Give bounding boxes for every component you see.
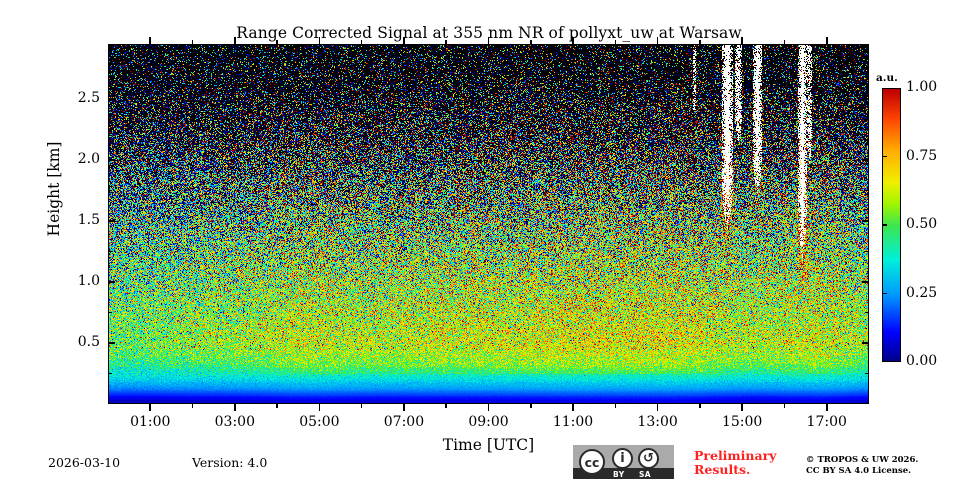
x-major-tick-top: [572, 37, 574, 44]
y-major-tick-right: [862, 281, 869, 283]
preliminary-results-note: Preliminary Results.: [694, 449, 776, 477]
x-minor-tick: [192, 404, 194, 408]
y-major-tick: [108, 98, 115, 100]
colorbar-tick-label: 1.00: [906, 79, 937, 95]
cc-logo-icon: cc: [579, 449, 605, 475]
x-tick-label: 13:00: [623, 414, 693, 430]
colorbar-tick-label: 0.75: [906, 148, 937, 164]
x-tick-label: 05:00: [284, 414, 354, 430]
heatmap-canvas: [109, 45, 869, 404]
x-major-tick: [572, 404, 574, 411]
x-major-tick-top: [149, 37, 151, 44]
x-major-tick-top: [488, 37, 490, 44]
y-major-tick: [108, 281, 115, 283]
x-tick-label: 01:00: [115, 414, 185, 430]
colorbar-unit-label: a.u.: [876, 72, 898, 84]
heatmap-plot-area[interactable]: [108, 44, 869, 404]
x-minor-tick-top: [615, 40, 617, 44]
colorbar-tick: [882, 224, 887, 226]
x-major-tick: [657, 404, 659, 411]
copyright-line-2: CC BY SA 4.0 License.: [806, 466, 918, 477]
x-major-tick: [234, 404, 236, 411]
footer-version: Version: 4.0: [192, 455, 267, 470]
y-minor-tick-right: [865, 190, 869, 192]
colorbar-tick: [882, 293, 887, 295]
y-tick-label: 1.0: [52, 273, 100, 289]
y-major-tick-right: [862, 220, 869, 222]
colorbar-tick-label: 0.50: [906, 216, 937, 232]
y-major-tick: [108, 159, 115, 161]
x-minor-tick: [276, 404, 278, 408]
footer-date: 2026-03-10: [48, 455, 120, 470]
y-minor-tick-right: [865, 373, 869, 375]
cc-by-label: BY: [613, 470, 625, 479]
x-tick-label: 07:00: [369, 414, 439, 430]
y-major-tick: [108, 220, 115, 222]
preliminary-line-1: Preliminary: [694, 449, 776, 463]
y-minor-tick: [108, 251, 112, 253]
y-major-tick: [108, 342, 115, 344]
creative-commons-badge[interactable]: cc i ↺ BY SA: [573, 445, 674, 479]
x-minor-tick-top: [361, 40, 363, 44]
y-major-tick-right: [862, 159, 869, 161]
x-tick-label: 17:00: [792, 414, 862, 430]
y-tick-label: 0.5: [52, 334, 100, 350]
x-major-tick: [826, 404, 828, 411]
y-tick-label: 2.5: [52, 90, 100, 106]
x-minor-tick-top: [699, 40, 701, 44]
x-minor-tick-top: [784, 40, 786, 44]
x-major-tick: [149, 404, 151, 411]
x-major-tick-top: [403, 37, 405, 44]
x-tick-label: 09:00: [454, 414, 524, 430]
x-tick-label: 11:00: [538, 414, 608, 430]
y-minor-tick-right: [865, 68, 869, 70]
x-minor-tick-top: [445, 40, 447, 44]
x-major-tick: [319, 404, 321, 411]
y-major-tick-right: [862, 342, 869, 344]
cc-sa-label: SA: [639, 470, 651, 479]
cc-by-person-icon: i: [612, 448, 633, 469]
y-minor-tick-right: [865, 129, 869, 131]
x-minor-tick: [445, 404, 447, 408]
y-major-tick-right: [862, 98, 869, 100]
x-minor-tick: [530, 404, 532, 408]
x-major-tick: [488, 404, 490, 411]
y-minor-tick-right: [865, 251, 869, 253]
x-minor-tick: [699, 404, 701, 408]
x-minor-tick-top: [192, 40, 194, 44]
y-minor-tick: [108, 190, 112, 192]
x-minor-tick: [615, 404, 617, 408]
copyright-note: © TROPOS & UW 2026. CC BY SA 4.0 License…: [806, 455, 918, 477]
x-major-tick-top: [657, 37, 659, 44]
x-major-tick: [741, 404, 743, 411]
y-minor-tick: [108, 68, 112, 70]
x-major-tick-top: [234, 37, 236, 44]
x-major-tick: [403, 404, 405, 411]
y-axis-label: Height [km]: [45, 119, 63, 259]
x-major-tick-top: [319, 37, 321, 44]
x-tick-label: 15:00: [707, 414, 777, 430]
colorbar-tick: [882, 156, 887, 158]
y-minor-tick: [108, 129, 112, 131]
lidar-quicklook-figure: Range Corrected Signal at 355 nm NR of p…: [0, 0, 960, 480]
y-minor-tick: [108, 373, 112, 375]
colorbar-tick-label: 0.25: [906, 285, 937, 301]
y-minor-tick-right: [865, 312, 869, 314]
cc-sa-sharealike-icon: ↺: [638, 448, 659, 469]
x-major-tick-top: [826, 37, 828, 44]
x-tick-label: 03:00: [200, 414, 270, 430]
colorbar-tick-label: 0.00: [906, 353, 937, 369]
y-minor-tick: [108, 312, 112, 314]
preliminary-line-2: Results.: [694, 463, 776, 477]
x-major-tick-top: [741, 37, 743, 44]
x-minor-tick: [361, 404, 363, 408]
x-minor-tick: [784, 404, 786, 408]
copyright-line-1: © TROPOS & UW 2026.: [806, 455, 918, 466]
x-minor-tick-top: [530, 40, 532, 44]
x-minor-tick-top: [276, 40, 278, 44]
